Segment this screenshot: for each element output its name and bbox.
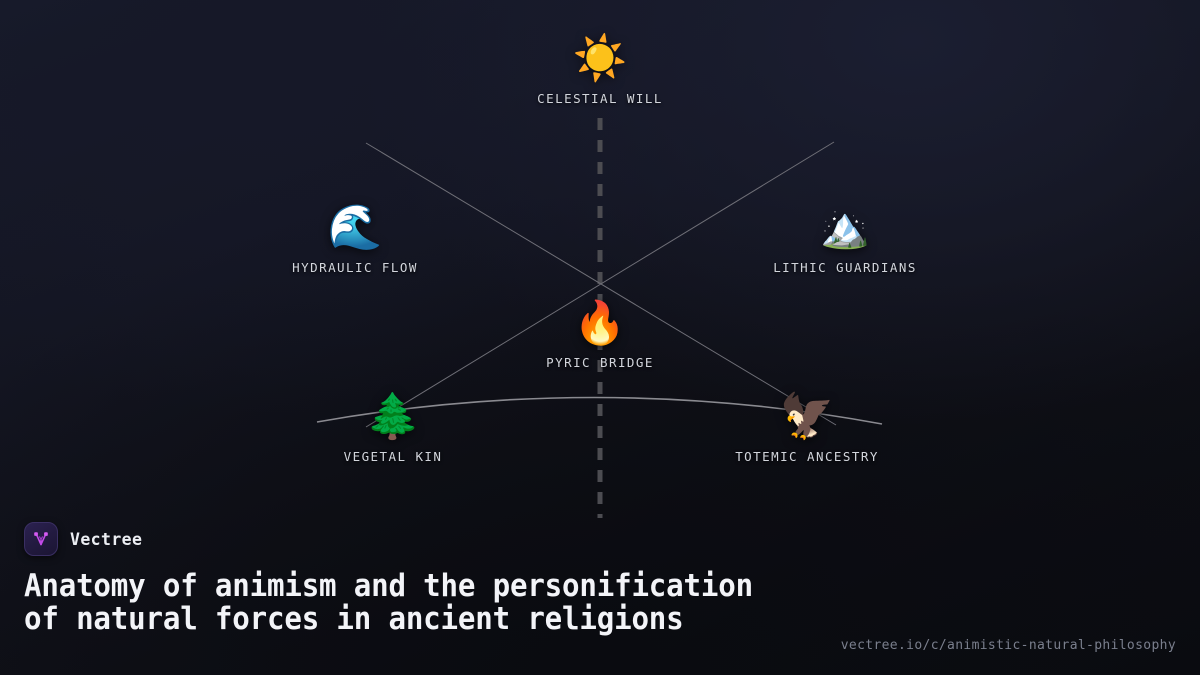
node-label-lithic-guardians: LITHIC GUARDIANS bbox=[773, 260, 917, 275]
node-label-celestial-will: CELESTIAL WILL bbox=[537, 91, 663, 106]
page-title: Anatomy of animism and the personificati… bbox=[24, 570, 795, 635]
wave-icon: 🌊 bbox=[328, 205, 383, 251]
node-pyric-bridge[interactable]: 🔥 PYRIC BRIDGE bbox=[546, 300, 654, 370]
eagle-icon: 🦅 bbox=[780, 394, 835, 440]
node-label-vegetal-kin: VEGETAL KIN bbox=[344, 449, 443, 464]
evergreen-tree-icon: 🌲 bbox=[366, 394, 421, 440]
mountain-icon: 🏔️ bbox=[820, 205, 870, 251]
brand-name: Vectree bbox=[70, 530, 142, 549]
node-vegetal-kin[interactable]: 🌲 VEGETAL KIN bbox=[344, 394, 443, 464]
sun-icon: ☀️ bbox=[573, 36, 628, 82]
source-url: vectree.io/c/animistic-natural-philosoph… bbox=[841, 638, 1176, 653]
fire-icon: 🔥 bbox=[574, 300, 626, 346]
node-lithic-guardians[interactable]: 🏔️ LITHIC GUARDIANS bbox=[773, 205, 917, 275]
poster-footer: Vectree Anatomy of animism and the perso… bbox=[0, 500, 1200, 675]
poster-canvas: ☀️ CELESTIAL WILL 🌊 HYDRAULIC FLOW 🏔️ LI… bbox=[0, 0, 1200, 675]
node-totemic-ancestry[interactable]: 🦅 TOTEMIC ANCESTRY bbox=[735, 394, 879, 464]
node-label-pyric-bridge: PYRIC BRIDGE bbox=[546, 355, 654, 370]
node-label-totemic-ancestry: TOTEMIC ANCESTRY bbox=[735, 449, 879, 464]
vectree-v-logo-icon bbox=[24, 522, 58, 556]
brand-row[interactable]: Vectree bbox=[24, 522, 1176, 556]
node-hydraulic-flow[interactable]: 🌊 HYDRAULIC FLOW bbox=[292, 205, 418, 275]
node-celestial-will[interactable]: ☀️ CELESTIAL WILL bbox=[537, 36, 663, 106]
node-label-hydraulic-flow: HYDRAULIC FLOW bbox=[292, 260, 418, 275]
